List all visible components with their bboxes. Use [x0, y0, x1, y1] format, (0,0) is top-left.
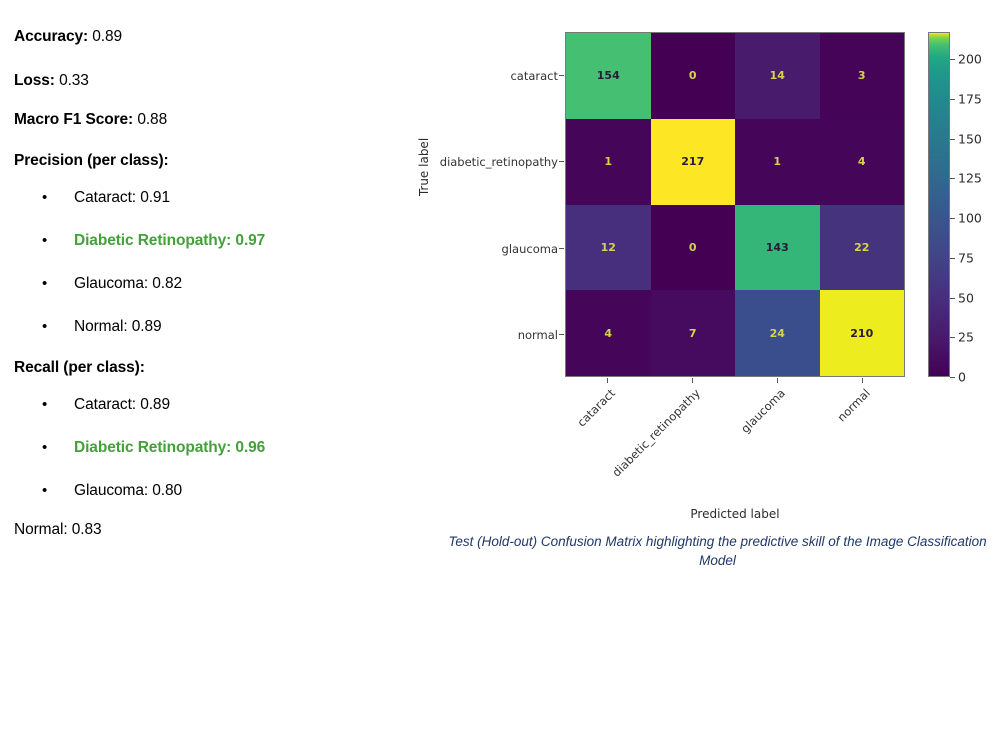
- list-item: •Glaucoma: 0.82: [42, 275, 182, 293]
- y-tick-label-1: diabetic_retinopathy: [390, 155, 558, 169]
- list-item: •Cataract: 0.89: [42, 396, 170, 414]
- x-tick-mark: [777, 378, 778, 383]
- figure-caption: Test (Hold-out) Confusion Matrix highlig…: [435, 532, 1000, 570]
- x-axis-title: Predicted label: [565, 507, 905, 521]
- cm-cell-value: 143: [766, 241, 789, 254]
- colorbar-tick-label-175: 175: [958, 91, 982, 106]
- y-tick-mark: [559, 75, 564, 76]
- cm-cell-value: 0: [689, 241, 697, 254]
- list-item: •Normal: 0.89: [42, 318, 162, 336]
- confusion-matrix-figure: True label cataract diabetic_retinopathy…: [390, 0, 1000, 576]
- colorbar-tick-mark: [950, 258, 955, 259]
- list-item: •Cataract: 0.91: [42, 189, 170, 207]
- list-item: •Glaucoma: 0.80: [42, 482, 182, 500]
- recall-glaucoma: Glaucoma: 0.80: [74, 482, 182, 499]
- recall-normal: Normal: 0.83: [14, 521, 102, 539]
- cm-cell-3-1: 7: [651, 290, 736, 376]
- cm-cell-value: 1: [773, 155, 781, 168]
- colorbar-tick-label-125: 125: [958, 171, 982, 186]
- bullet-icon: •: [42, 232, 74, 250]
- cm-cell-value: 154: [597, 69, 620, 82]
- colorbar-tick-mark: [950, 218, 955, 219]
- metric-macro-f1-value: 0.88: [137, 111, 167, 128]
- cm-cell-2-0: 12: [566, 205, 651, 291]
- list-item: •Diabetic Retinopathy: 0.96: [42, 439, 265, 457]
- y-tick-mark: [559, 161, 564, 162]
- cm-cell-0-3: 3: [820, 33, 905, 119]
- cm-cell-value: 217: [681, 155, 704, 168]
- precision-normal: Normal: 0.89: [74, 318, 162, 335]
- metric-macro-f1: Macro F1 Score: 0.88: [14, 111, 167, 129]
- x-tick-mark: [692, 378, 693, 383]
- cm-cell-3-3: 210: [820, 290, 905, 376]
- cm-cell-value: 12: [601, 241, 616, 254]
- bullet-icon: •: [42, 439, 74, 457]
- precision-diabetic-retinopathy: Diabetic Retinopathy: 0.97: [74, 232, 265, 249]
- cm-cell-value: 3: [858, 69, 866, 82]
- colorbar-tick-label-200: 200: [958, 52, 982, 67]
- precision-cataract: Cataract: 0.91: [74, 189, 170, 206]
- cm-cell-value: 4: [858, 155, 866, 168]
- metric-accuracy-label: Accuracy:: [14, 28, 88, 45]
- x-tick-label-0: cataract: [454, 386, 618, 550]
- y-tick-label-2: glaucoma: [390, 242, 558, 256]
- metric-macro-f1-label: Macro F1 Score:: [14, 111, 133, 128]
- x-tick-mark: [862, 378, 863, 383]
- cm-cell-2-3: 22: [820, 205, 905, 291]
- confusion-matrix-grid: 1540143121714120143224724210: [565, 32, 905, 377]
- metric-loss-value: 0.33: [59, 72, 89, 89]
- cm-cell-value: 7: [689, 327, 697, 340]
- colorbar-tick-mark: [950, 298, 955, 299]
- cm-cell-value: 1: [604, 155, 612, 168]
- colorbar-tick-mark: [950, 99, 955, 100]
- cm-cell-3-0: 4: [566, 290, 651, 376]
- cm-cell-0-1: 0: [651, 33, 736, 119]
- colorbar-tick-mark: [950, 178, 955, 179]
- bullet-icon: •: [42, 482, 74, 500]
- metric-loss: Loss: 0.33: [14, 72, 89, 90]
- x-tick-label-2: glaucoma: [504, 386, 788, 670]
- precision-glaucoma: Glaucoma: 0.82: [74, 275, 182, 292]
- cm-cell-1-2: 1: [735, 119, 820, 205]
- cm-cell-value: 22: [854, 241, 869, 254]
- metric-accuracy-value: 0.89: [92, 28, 122, 45]
- x-tick-mark: [607, 378, 608, 383]
- cm-cell-1-0: 1: [566, 119, 651, 205]
- colorbar-tick-label-100: 100: [958, 211, 982, 226]
- colorbar-tick-label-75: 75: [958, 250, 974, 265]
- colorbar-tick-mark: [950, 337, 955, 338]
- precision-section-heading: Precision (per class):: [14, 152, 169, 170]
- recall-section-heading: Recall (per class):: [14, 359, 145, 377]
- recall-cataract: Cataract: 0.89: [74, 396, 170, 413]
- cm-cell-0-2: 14: [735, 33, 820, 119]
- figure-caption-line-1: Test (Hold-out) Confusion Matrix highlig…: [448, 534, 839, 549]
- cm-cell-3-2: 24: [735, 290, 820, 376]
- bullet-icon: •: [42, 189, 74, 207]
- colorbar-tick-label-150: 150: [958, 131, 982, 146]
- recall-diabetic-retinopathy: Diabetic Retinopathy: 0.96: [74, 439, 265, 456]
- metric-loss-label: Loss:: [14, 72, 55, 89]
- cm-cell-2-1: 0: [651, 205, 736, 291]
- colorbar-tick-mark: [950, 59, 955, 60]
- metrics-summary-panel: Accuracy: 0.89 Loss: 0.33 Macro F1 Score…: [0, 0, 400, 576]
- cm-cell-value: 0: [689, 69, 697, 82]
- colorbar-tick-label-25: 25: [958, 330, 974, 345]
- bullet-icon: •: [42, 275, 74, 293]
- cm-cell-1-3: 4: [820, 119, 905, 205]
- cm-cell-value: 4: [604, 327, 612, 340]
- cm-cell-value: 210: [850, 327, 873, 340]
- cm-cell-value: 24: [770, 327, 785, 340]
- y-tick-mark: [559, 334, 564, 335]
- cm-cell-value: 14: [770, 69, 785, 82]
- bullet-icon: •: [42, 396, 74, 414]
- colorbar-tick-mark: [950, 377, 955, 378]
- colorbar-tick-label-0: 0: [958, 370, 966, 385]
- list-item: •Diabetic Retinopathy: 0.97: [42, 232, 265, 250]
- colorbar-tick-label-50: 50: [958, 290, 974, 305]
- colorbar-tick-mark: [950, 139, 955, 140]
- cm-cell-1-1: 217: [651, 119, 736, 205]
- y-tick-label-0: cataract: [390, 69, 558, 83]
- metric-accuracy: Accuracy: 0.89: [14, 28, 122, 46]
- y-tick-label-3: normal: [390, 328, 558, 342]
- cm-cell-2-2: 143: [735, 205, 820, 291]
- colorbar-gradient: [928, 32, 950, 377]
- cm-cell-0-0: 154: [566, 33, 651, 119]
- y-tick-mark: [559, 248, 564, 249]
- bullet-icon: •: [42, 318, 74, 336]
